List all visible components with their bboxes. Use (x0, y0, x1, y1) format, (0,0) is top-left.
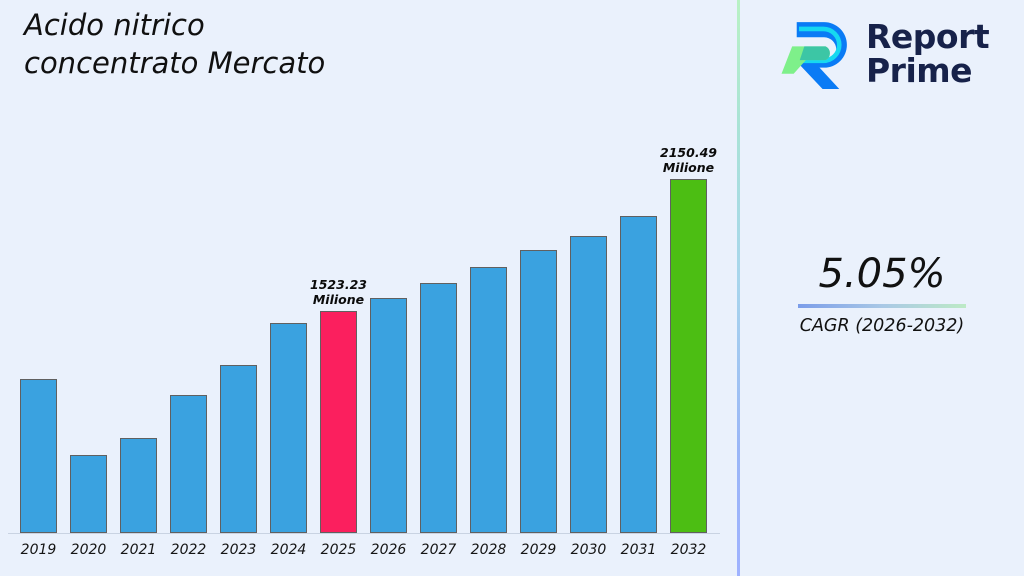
bar-group: 2026 (370, 298, 407, 533)
bar-group: 2024 (270, 323, 307, 533)
bar-group: 2031 (620, 216, 657, 533)
report-prime-logo-icon (780, 16, 856, 92)
bar-2020[interactable] (70, 455, 107, 533)
cagr-divider (798, 304, 966, 308)
bar-2024[interactable] (270, 323, 307, 533)
bar-2026[interactable] (370, 298, 407, 533)
x-axis-line (8, 533, 720, 534)
bar-2025[interactable] (320, 311, 357, 533)
x-tick-2032: 2032 (654, 542, 724, 558)
screenshot-root: Acido nitrico concentrato Mercato 201920… (0, 0, 1024, 576)
bar-2029[interactable] (520, 250, 557, 533)
bar-2023[interactable] (220, 365, 257, 533)
bar-group: 2020 (70, 455, 107, 533)
right-panel: Report Prime 5.05% CAGR (2026-2032) (740, 0, 1024, 576)
bar-group: 2029 (520, 250, 557, 533)
bar-2031[interactable] (620, 216, 657, 533)
bar-2022[interactable] (170, 395, 207, 533)
bar-group: 2019 (20, 379, 57, 533)
bar-group: 1523.23 Milione2025 (320, 311, 357, 533)
brand-logo: Report Prime (780, 12, 1004, 96)
bar-group: 2021 (120, 438, 157, 533)
bar-2032[interactable] (670, 179, 707, 533)
bar-2030[interactable] (570, 236, 607, 533)
bar-group: 2030 (570, 236, 607, 533)
bar-2028[interactable] (470, 267, 507, 533)
bar-2019[interactable] (20, 379, 57, 533)
bar-group: 2022 (170, 395, 207, 533)
cagr-value: 5.05% (740, 250, 1024, 298)
cagr-caption: CAGR (2026-2032) (740, 315, 1024, 337)
bar-chart-plot: 2019202020212022202320241523.23 Milione2… (0, 0, 738, 576)
bar-2021[interactable] (120, 438, 157, 533)
cagr-block: 5.05% CAGR (2026-2032) (740, 250, 1024, 337)
bar-2027[interactable] (420, 283, 457, 533)
bar-value-label-2032: 2150.49 Milione (634, 145, 744, 175)
chart-panel: Acido nitrico concentrato Mercato 201920… (0, 0, 738, 576)
bar-group: 2027 (420, 283, 457, 533)
brand-wordmark: Report Prime (866, 20, 989, 88)
bar-group: 2028 (470, 267, 507, 533)
bar-group: 2150.49 Milione2032 (670, 179, 707, 533)
bar-group: 2023 (220, 365, 257, 533)
